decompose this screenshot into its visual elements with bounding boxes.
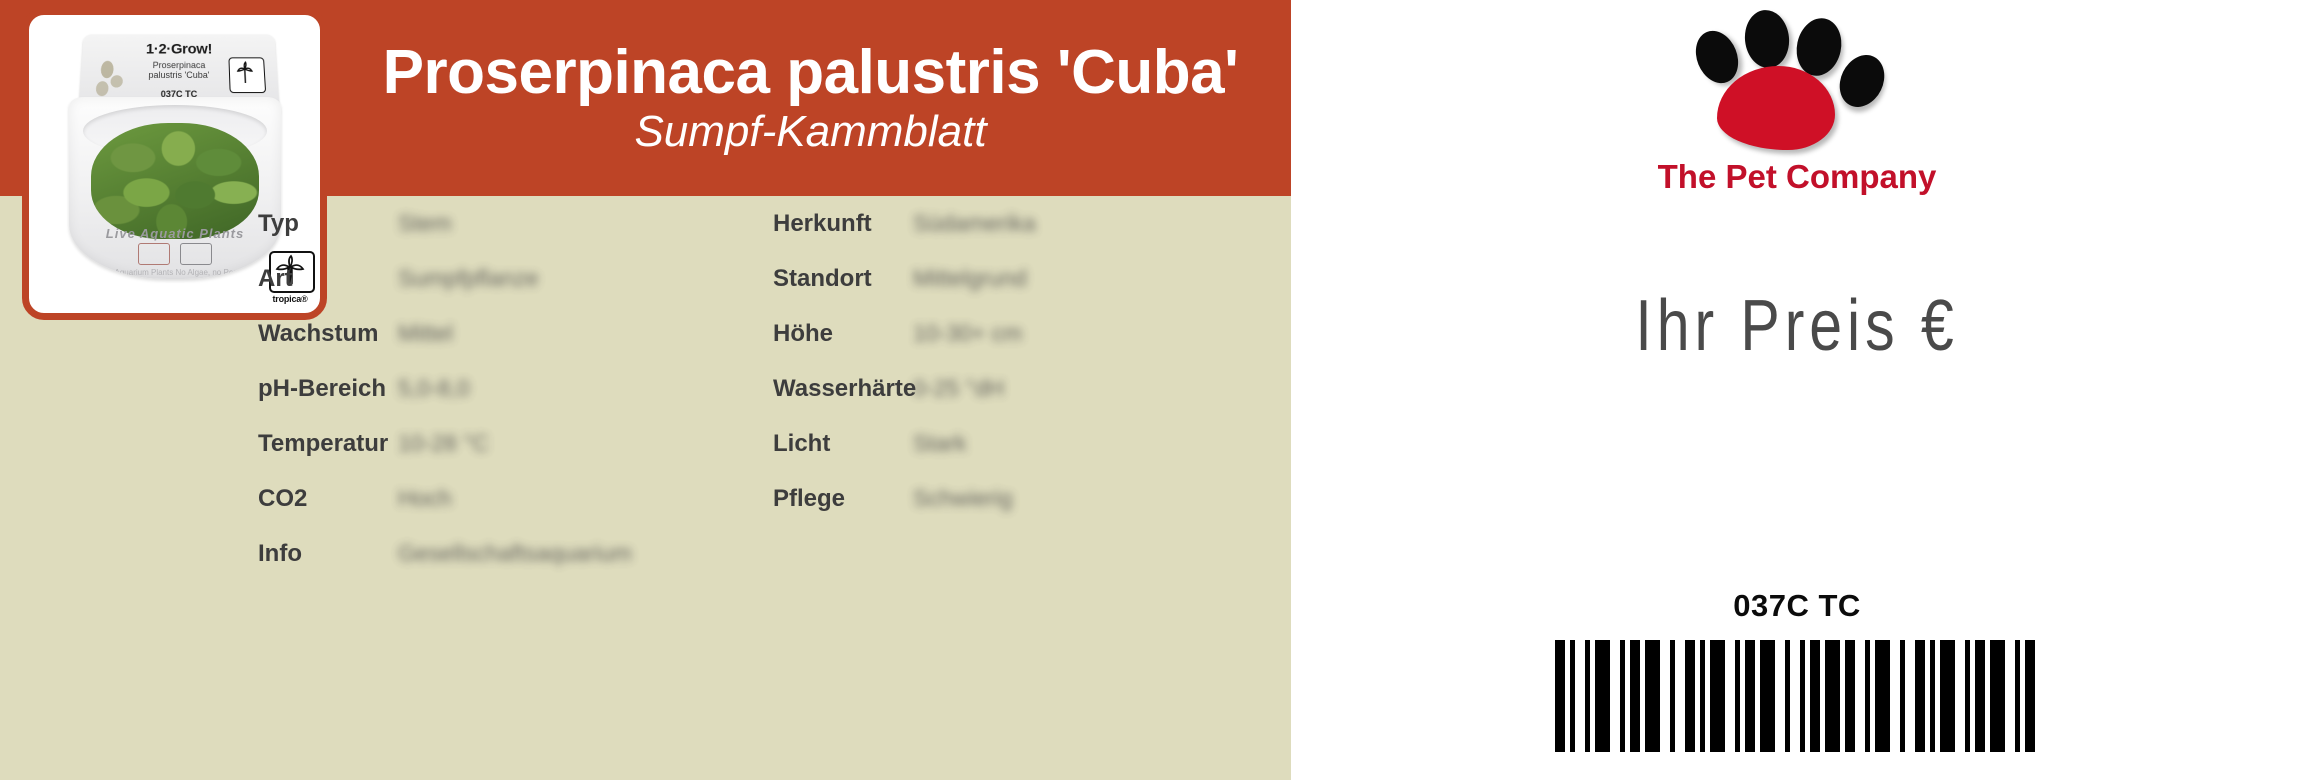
barcode-space <box>1575 640 1585 752</box>
barcode-space <box>1890 640 1900 752</box>
brand-name: The Pet Company <box>1291 158 2303 196</box>
barcode-space <box>2005 640 2015 752</box>
attribute-label: Typ <box>258 210 398 238</box>
barcode-bar <box>1915 640 1925 752</box>
barcode-bar <box>1990 640 2005 752</box>
attribute-label: Höhe <box>773 320 913 348</box>
attribute-column-right: Herkunft Südamerika Standort Mittelgrund… <box>773 196 1288 526</box>
attribute-value: 5,0-8,0 <box>398 375 470 402</box>
paw-toe-icon <box>1742 8 1792 70</box>
price-label: Ihr Preis € <box>1382 285 2212 367</box>
attribute-row: Standort Mittelgrund <box>773 251 1288 306</box>
aquatic-plant-foliage <box>91 123 259 239</box>
attribute-row: Info Gesellschaftsaquarium <box>258 526 773 581</box>
attribute-row: Wachstum Mittel <box>258 306 773 361</box>
paw-toe-icon <box>1831 48 1892 115</box>
attribute-row: pH-Bereich 5,0-8,0 <box>258 361 773 416</box>
attribute-value: Mittelgrund <box>913 265 1027 292</box>
plant-info-panel: Proserpinaca palustris 'Cuba' Sumpf-Kamm… <box>0 0 1291 780</box>
attribute-label: Herkunft <box>773 210 913 238</box>
brand-logo: The Pet Company <box>1291 6 2303 196</box>
price-panel: The Pet Company Ihr Preis € 037C TC <box>1291 0 2303 780</box>
cup-fineprint: 100% Clean Aquarium Plants No Algae, no … <box>69 269 281 278</box>
cup-brand-label: 1·2·Grow! <box>82 41 276 57</box>
barcode-space <box>1775 640 1785 752</box>
barcode-bar <box>1810 640 1820 752</box>
barcode-space <box>1660 640 1670 752</box>
attribute-value: 10-28 °C <box>398 430 489 457</box>
barcode-space <box>1790 640 1800 752</box>
barcode-bar <box>1595 640 1610 752</box>
attribute-value: Gesellschaftsaquarium <box>398 540 632 567</box>
barcode-bar <box>1875 640 1890 752</box>
attribute-value: 0-25 °dH <box>913 375 1004 402</box>
paw-pad-icon <box>1717 66 1835 150</box>
barcode-space <box>2035 640 2040 752</box>
attribute-row: CO2 Hoch <box>258 471 773 526</box>
attribute-value: Schwierig <box>913 485 1013 512</box>
page-title: Proserpinaca palustris 'Cuba' <box>383 40 1239 105</box>
cup-species-line1: Proserpinaca <box>153 60 206 70</box>
attribute-column-left: Typ Stem Art Sumpfpflanze Wachstum Mitte… <box>258 196 773 581</box>
attribute-label: pH-Bereich <box>258 375 398 403</box>
barcode-bar <box>1710 640 1725 752</box>
attribute-value: Sumpfpflanze <box>398 265 539 292</box>
attribute-label: Info <box>258 540 398 568</box>
barcode-space <box>1905 640 1915 752</box>
attribute-row: Höhe 10-30+ cm <box>773 306 1288 361</box>
plant-common-name: Sumpf-Kammblatt <box>634 109 986 155</box>
attribute-row: Art Sumpfpflanze <box>258 251 773 306</box>
barcode-bar <box>1745 640 1755 752</box>
attribute-row: Licht Stark <box>773 416 1288 471</box>
cup-pictogram-row <box>69 243 281 265</box>
attribute-row: Temperatur 10-28 °C <box>258 416 773 471</box>
barcode-bar <box>1940 640 1955 752</box>
cup-bottom-label: Live Aquatic Plants <box>69 226 281 241</box>
attribute-label: Standort <box>773 265 913 293</box>
barcode-bar <box>1975 640 1985 752</box>
aquarium-icon <box>180 243 212 265</box>
attribute-row: Typ Stem <box>258 196 773 251</box>
attribute-label: Art <box>258 265 398 293</box>
attribute-row: Wasserhärte 0-25 °dH <box>773 361 1288 416</box>
attribute-label: Pflege <box>773 485 913 513</box>
barcode-bar <box>1845 640 1855 752</box>
attribute-value: Hoch <box>398 485 452 512</box>
price-label-card: Proserpinaca palustris 'Cuba' Sumpf-Kamm… <box>0 0 2303 780</box>
attribute-label: Wachstum <box>258 320 398 348</box>
cup-species-line2: palustris 'Cuba' <box>148 70 209 80</box>
barcode-bar <box>1630 640 1640 752</box>
barcode-bar <box>2025 640 2035 752</box>
barcode-bar <box>1825 640 1840 752</box>
attribute-value: Südamerika <box>913 210 1036 237</box>
attribute-value: Stem <box>398 210 452 237</box>
paw-print-icon <box>1681 6 1913 156</box>
barcode-bar <box>1645 640 1660 752</box>
barcode-bar <box>1760 640 1775 752</box>
attribute-value: Stark <box>913 430 967 457</box>
barcode <box>1291 640 2303 752</box>
barcode-space <box>1675 640 1685 752</box>
clean-plant-icon <box>138 243 170 265</box>
barcode-space <box>1610 640 1620 752</box>
sku-code: 037C TC <box>1291 588 2303 624</box>
attribute-label: Temperatur <box>258 430 398 458</box>
attribute-row: Herkunft Südamerika <box>773 196 1288 251</box>
attribute-value: 10-30+ cm <box>913 320 1022 347</box>
barcode-bar <box>1685 640 1695 752</box>
attribute-grid: Typ Stem Art Sumpfpflanze Wachstum Mitte… <box>258 196 1288 780</box>
cup-body: Live Aquatic Plants 100% Clean Aquarium … <box>69 97 281 279</box>
attribute-label: CO2 <box>258 485 398 513</box>
tropica-logo-icon-small <box>228 57 266 93</box>
attribute-label: Licht <box>773 430 913 458</box>
attribute-row: Pflege Schwierig <box>773 471 1288 526</box>
barcode-space <box>1725 640 1735 752</box>
barcode-space <box>1955 640 1965 752</box>
barcode-space <box>1855 640 1865 752</box>
attribute-value: Mittel <box>398 320 453 347</box>
barcode-bar <box>1555 640 1565 752</box>
attribute-label: Wasserhärte <box>773 375 913 403</box>
